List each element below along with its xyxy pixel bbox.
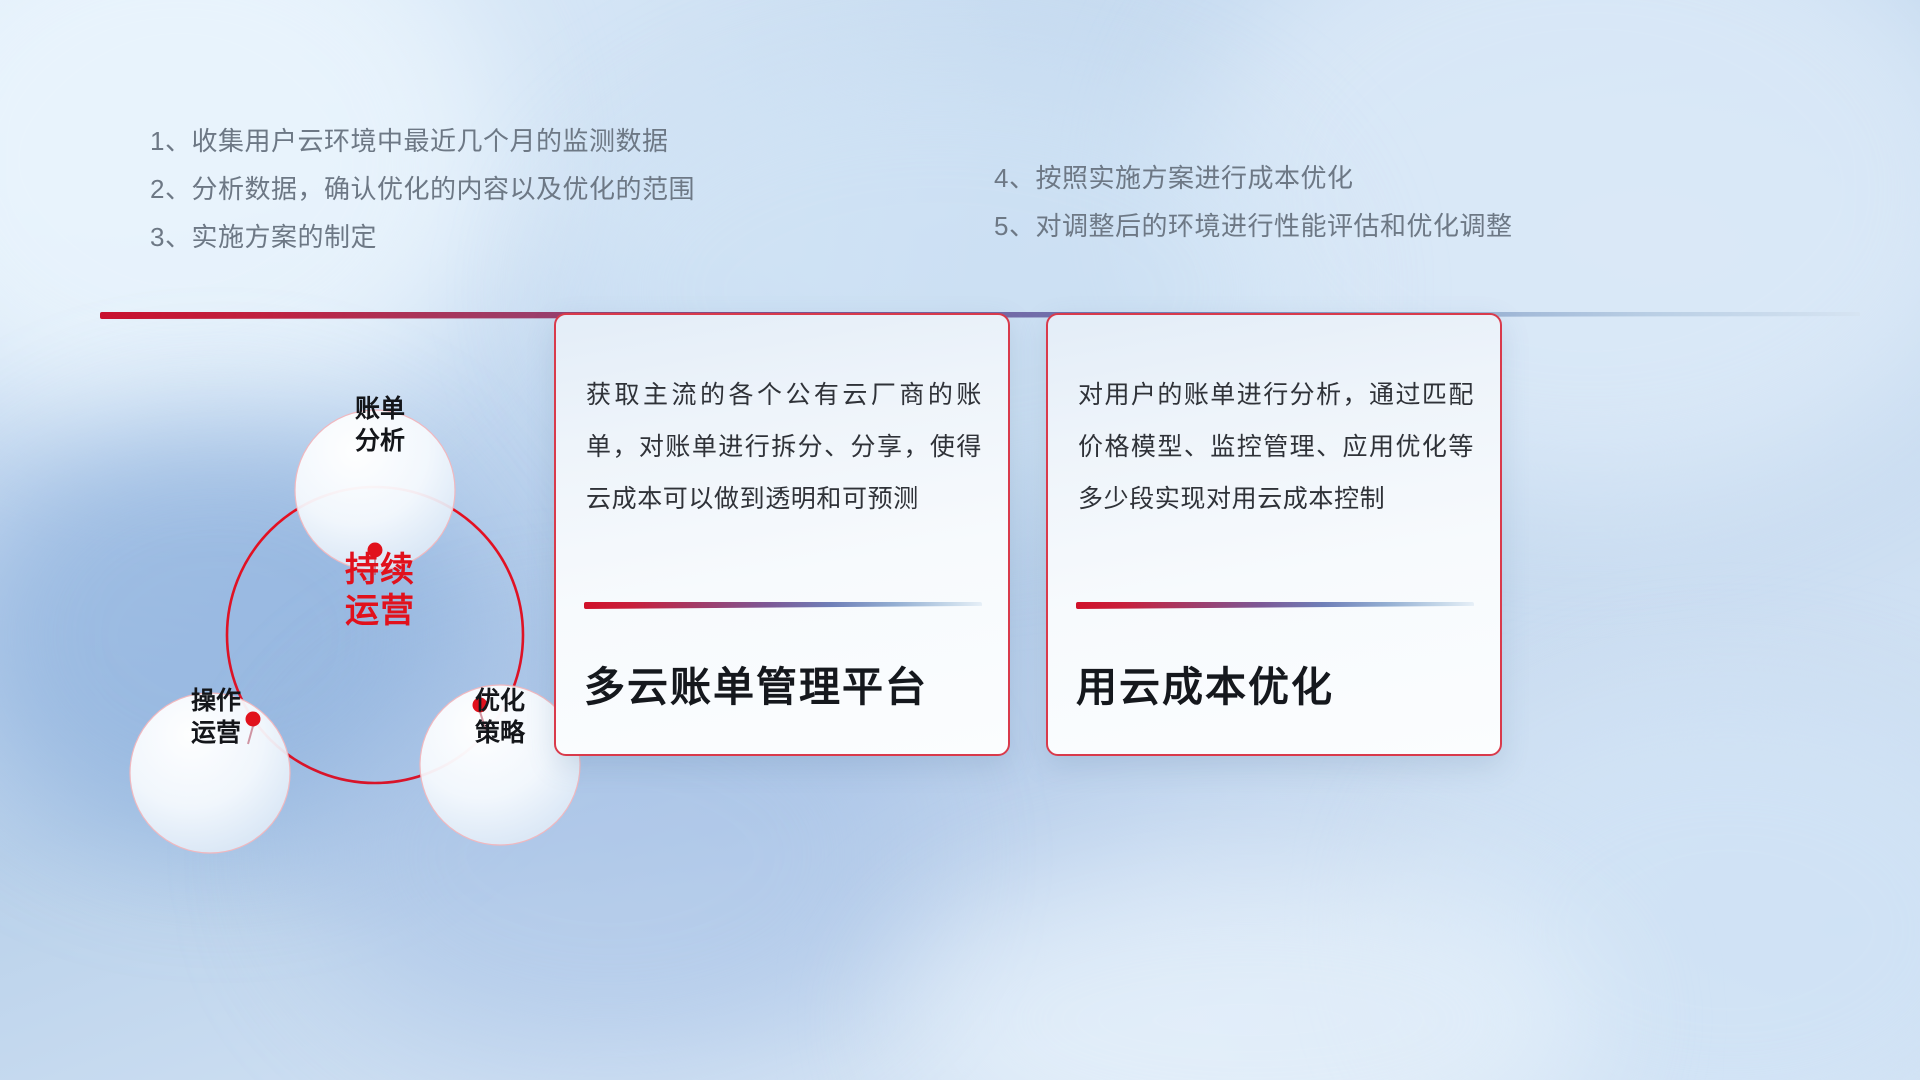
card-divider-rule — [584, 602, 982, 609]
list-item: 4、按照实施方案进行成本优化 — [994, 165, 1512, 191]
steps-list-left: 1、收集用户云环境中最近几个月的监测数据 2、分析数据，确认优化的内容以及优化的… — [150, 128, 695, 272]
ring-dot-top — [368, 543, 383, 558]
list-item-number: 2、 — [150, 174, 191, 204]
list-item-label: 实施方案的制定 — [191, 222, 377, 252]
list-item-number: 3、 — [150, 222, 191, 252]
info-card-multi-cloud-billing-platform[interactable]: 获取主流的各个公有云厂商的账单，对账单进行拆分、分享，使得云成本可以做到透明和可… — [554, 313, 1010, 756]
ring-dot-left — [246, 712, 261, 727]
list-item-label: 对调整后的环境进行性能评估和优化调整 — [1035, 211, 1512, 241]
list-item-number: 1、 — [150, 126, 191, 156]
list-item: 1、收集用户云环境中最近几个月的监测数据 — [150, 128, 695, 154]
list-item: 2、分析数据，确认优化的内容以及优化的范围 — [150, 176, 695, 202]
list-item-number: 5、 — [994, 211, 1035, 241]
background-blob — [900, 860, 1600, 1080]
list-item: 5、对调整后的环境进行性能评估和优化调整 — [994, 213, 1512, 239]
background-blob — [1420, 700, 1920, 1080]
steps-list-right: 4、按照实施方案进行成本优化 5、对调整后的环境进行性能评估和优化调整 — [994, 165, 1512, 261]
list-item-label: 收集用户云环境中最近几个月的监测数据 — [191, 126, 668, 156]
list-item: 3、实施方案的制定 — [150, 224, 695, 250]
info-card-cloud-cost-optimization[interactable]: 对用户的账单进行分析，通过匹配价格模型、监控管理、应用优化等多少段实现对用云成本… — [1046, 313, 1502, 756]
node-circle-operations — [130, 693, 290, 853]
card-title: 多云账单管理平台 — [584, 653, 988, 713]
card-title: 用云成本优化 — [1076, 653, 1480, 713]
card-body-text: 对用户的账单进行分析，通过匹配价格模型、监控管理、应用优化等多少段实现对用云成本… — [1078, 369, 1474, 525]
list-item-number: 4、 — [994, 163, 1035, 193]
card-body-text: 获取主流的各个公有云厂商的账单，对账单进行拆分、分享，使得云成本可以做到透明和可… — [586, 369, 982, 525]
list-item-label: 分析数据，确认优化的内容以及优化的范围 — [191, 174, 695, 204]
card-divider-rule — [1076, 602, 1474, 609]
ring-dot-right — [473, 698, 488, 713]
list-item-label: 按照实施方案进行成本优化 — [1035, 163, 1353, 193]
